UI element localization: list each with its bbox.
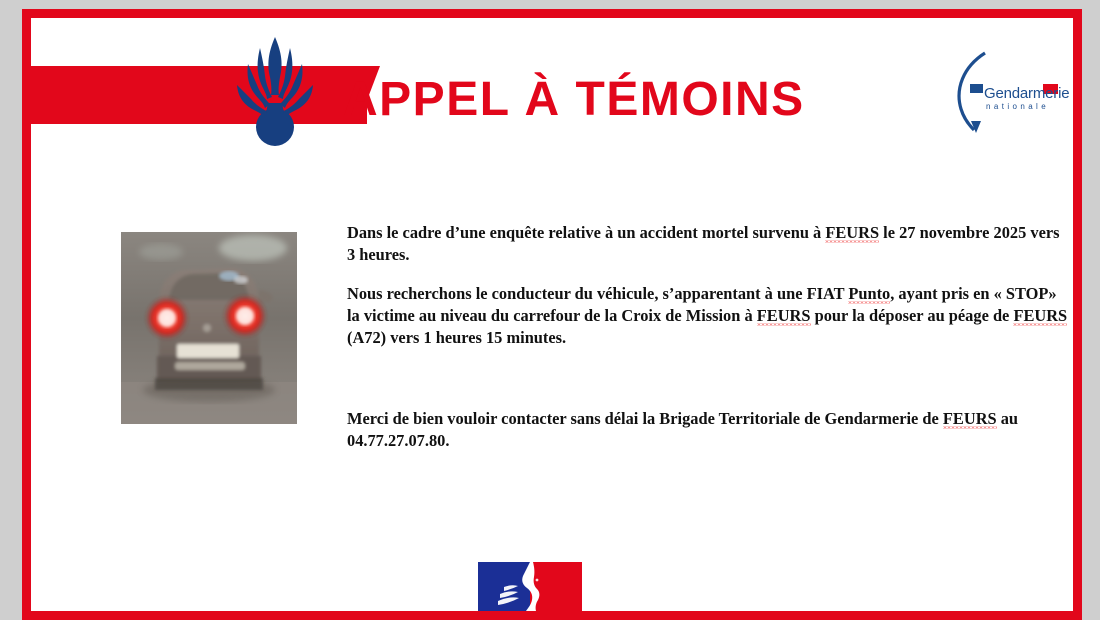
p1-part1: Dans le cadre d’une enquête relative à u…: [347, 223, 825, 242]
poster-page-frame: APPEL À TÉMOINS Gendarmerie nationale: [22, 9, 1082, 620]
p2-model: Punto: [848, 284, 890, 304]
gendarmerie-logo-subword: nationale: [986, 102, 1049, 111]
paragraph-gap-2: [347, 350, 1071, 408]
p3-part1: Merci de bien vouloir contacter sans dél…: [347, 409, 943, 428]
p2-part1: Nous recherchons le conducteur du véhicu…: [347, 284, 848, 303]
poster-page-inner: APPEL À TÉMOINS Gendarmerie nationale: [31, 18, 1073, 611]
gendarmerie-nationale-logo: Gendarmerie nationale: [943, 51, 1068, 135]
poster-title: APPEL À TÉMOINS: [343, 70, 805, 128]
p1-place1: FEURS: [825, 223, 879, 243]
p2-part3: pour la déposer au péage de: [811, 306, 1014, 325]
gendarmerie-flaming-grenade-icon: [227, 31, 323, 146]
marianne-french-republic-icon: [478, 562, 582, 611]
gendarmerie-logo-word: Gendarmerie: [984, 85, 1069, 102]
poster-canvas: APPEL À TÉMOINS Gendarmerie nationale: [0, 0, 1100, 620]
p2-part4: (A72) vers 1 heures 15 minutes.: [347, 328, 566, 347]
paragraph-1: Dans le cadre d’une enquête relative à u…: [347, 222, 1071, 267]
p3-place1: FEURS: [943, 409, 997, 429]
p2-place1: FEURS: [757, 306, 811, 326]
paragraph-3: Merci de bien vouloir contacter sans dél…: [347, 408, 1071, 453]
paragraph-gap-1: [347, 267, 1071, 283]
paragraph-2: Nous recherchons le conducteur du véhicu…: [347, 283, 1071, 350]
p2-place2: FEURS: [1013, 306, 1067, 326]
photo-image: [121, 232, 297, 424]
cctv-photo-suspect-vehicle-rear: [121, 232, 297, 424]
poster-body-text: Dans le cadre d’une enquête relative à u…: [347, 222, 1071, 452]
